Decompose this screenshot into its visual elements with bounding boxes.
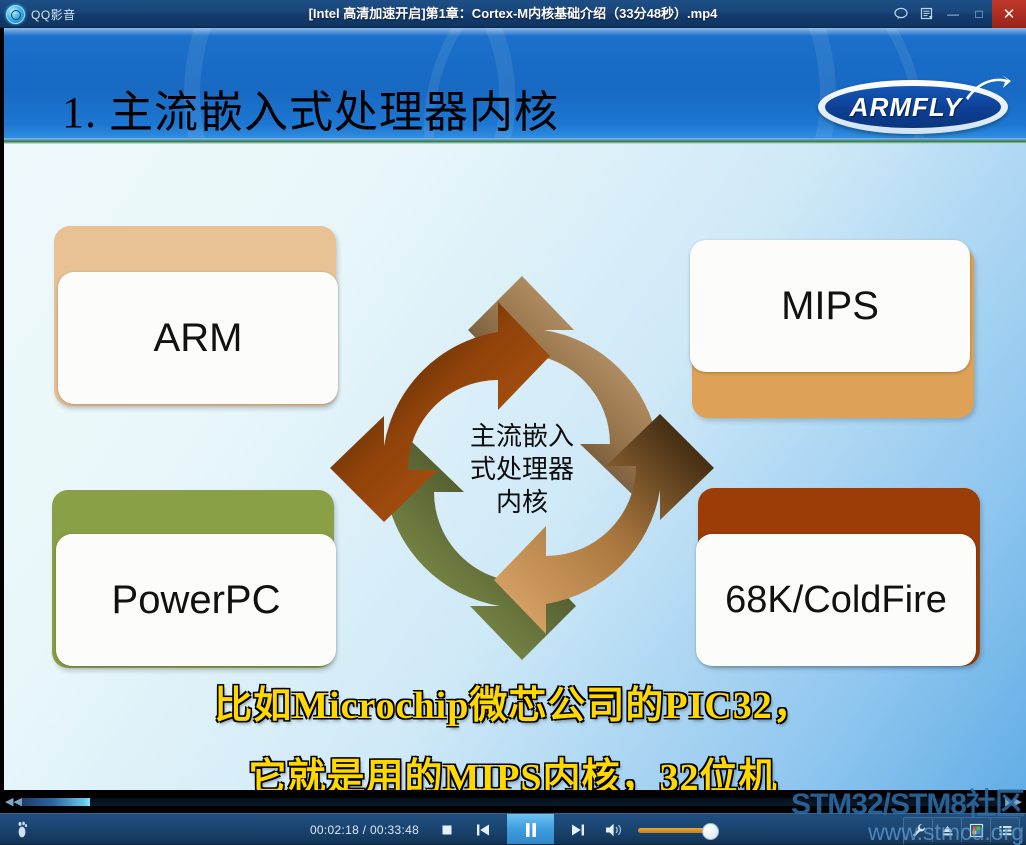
next-button[interactable] bbox=[566, 818, 590, 842]
seek-track[interactable] bbox=[22, 798, 1017, 806]
next-track-icon bbox=[570, 822, 586, 838]
cycle-label-line-2: 式处理器 bbox=[322, 453, 722, 486]
box-body: 68K/ColdFire bbox=[696, 534, 976, 666]
eject-icon bbox=[940, 823, 955, 838]
core-box-powerpc: PowerPC bbox=[52, 490, 334, 668]
seek-forward-icon[interactable]: ▶▶ bbox=[1005, 795, 1022, 808]
slide-caption: 比如Microchip微芯公司的PIC32， 它就是用的MIPS内核，32位机 bbox=[0, 670, 1026, 790]
cycle-label-line-3: 内核 bbox=[322, 486, 722, 519]
logo-arrow-icon bbox=[964, 74, 1012, 104]
play-pause-button[interactable] bbox=[507, 814, 554, 845]
app-name-label: QQ影音 bbox=[31, 6, 76, 23]
box-label: 68K/ColdFire bbox=[725, 579, 947, 622]
box-label: ARM bbox=[154, 316, 243, 361]
utility-buttons bbox=[903, 817, 1020, 845]
transport-controls: 00:02:18 / 00:33:48 bbox=[0, 814, 1026, 845]
screenshot-icon bbox=[969, 823, 984, 838]
box-label: PowerPC bbox=[112, 578, 281, 623]
core-box-arm: ARM bbox=[54, 226, 336, 406]
seek-bar[interactable]: ◀◀ ▶▶ bbox=[0, 790, 1026, 813]
box-body: ARM bbox=[58, 272, 338, 404]
volume-button[interactable] bbox=[602, 818, 626, 842]
stop-button[interactable] bbox=[435, 818, 459, 842]
window-controls: — □ ✕ bbox=[888, 0, 1026, 28]
seek-rewind-icon[interactable]: ◀◀ bbox=[5, 795, 22, 808]
stop-icon bbox=[440, 823, 454, 837]
volume-icon bbox=[605, 822, 623, 838]
page-title: 1. 主流嵌入式处理器内核 bbox=[62, 76, 559, 140]
core-box-mips: MIPS bbox=[692, 246, 974, 418]
playlist-button[interactable] bbox=[914, 0, 940, 28]
window-title: [Intel 高清加速开启]第1章：Cortex-M内核基础介绍（33分48秒）… bbox=[0, 0, 1026, 28]
cycle-label-line-1: 主流嵌入 bbox=[322, 420, 722, 453]
close-button[interactable]: ✕ bbox=[992, 0, 1026, 28]
qq-player-logo-icon bbox=[6, 5, 25, 24]
playlist-panel-button[interactable] bbox=[991, 818, 1019, 842]
caption-line-1: 比如Microchip微芯公司的PIC32， bbox=[0, 670, 1026, 742]
cycle-center-label: 主流嵌入 式处理器 内核 bbox=[322, 420, 722, 519]
wrench-icon bbox=[911, 823, 926, 838]
settings-button[interactable] bbox=[904, 818, 933, 842]
playlist-icon bbox=[920, 7, 934, 21]
previous-button[interactable] bbox=[471, 818, 495, 842]
title-bar: QQ影音 [Intel 高清加速开启]第1章：Cortex-M内核基础介绍（33… bbox=[0, 0, 1026, 28]
box-body: MIPS bbox=[690, 240, 970, 372]
seek-progress-fill bbox=[22, 798, 90, 806]
video-surface[interactable]: 1. 主流嵌入式处理器内核 ARMFLY ARM MIPS bbox=[0, 28, 1026, 790]
core-box-68k-coldfire: 68K/ColdFire bbox=[698, 488, 980, 666]
pause-icon bbox=[522, 821, 540, 839]
timecode-label: 00:02:18 / 00:33:48 bbox=[310, 823, 419, 837]
screenshot-button[interactable] bbox=[962, 818, 991, 842]
eject-button[interactable] bbox=[933, 818, 962, 842]
control-bar: 00:02:18 / 00:33:48 bbox=[0, 813, 1026, 845]
volume-slider-knob[interactable] bbox=[702, 823, 719, 840]
minimize-button[interactable]: — bbox=[940, 0, 966, 28]
armfly-logo: ARMFLY bbox=[818, 76, 1008, 138]
feedback-button[interactable] bbox=[888, 0, 914, 28]
speech-bubble-icon bbox=[894, 7, 908, 21]
list-icon bbox=[998, 823, 1013, 838]
caption-line-2: 它就是用的MIPS内核，32位机 bbox=[0, 742, 1026, 790]
app-identity: QQ影音 bbox=[6, 0, 76, 28]
box-body: PowerPC bbox=[56, 534, 336, 666]
box-label: MIPS bbox=[781, 284, 879, 329]
volume-slider[interactable] bbox=[638, 828, 716, 833]
presentation-slide: 1. 主流嵌入式处理器内核 ARMFLY ARM MIPS bbox=[0, 28, 1026, 790]
maximize-button[interactable]: □ bbox=[966, 0, 992, 28]
qq-player-window: QQ影音 [Intel 高清加速开启]第1章：Cortex-M内核基础介绍（33… bbox=[0, 0, 1026, 845]
previous-track-icon bbox=[475, 822, 491, 838]
